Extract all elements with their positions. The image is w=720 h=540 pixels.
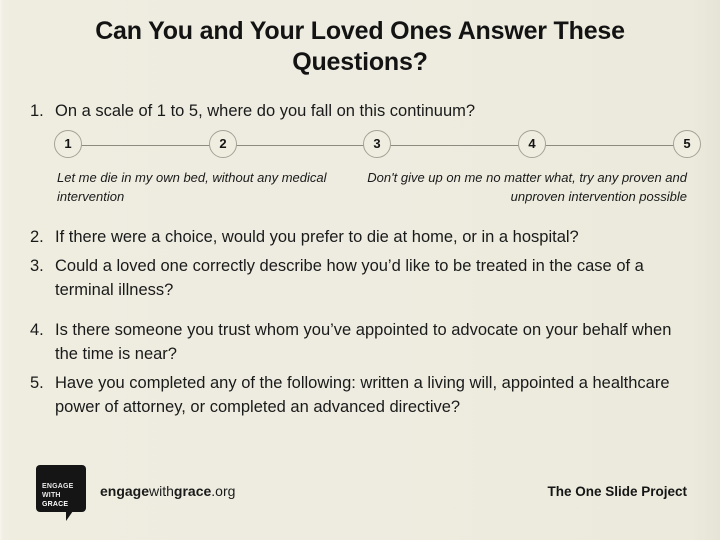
logo-word-with: WITH — [42, 492, 61, 499]
website-url[interactable]: engagewithgrace.org — [100, 483, 235, 499]
question-number-1: 1. — [30, 99, 52, 123]
project-label: The One Slide Project — [547, 484, 687, 499]
slide-canvas: Can You and Your Loved Ones Answer These… — [0, 0, 720, 540]
logo-text: ENGAGE WITH GRACE — [42, 482, 82, 509]
question-text-2: If there were a choice, would you prefer… — [55, 225, 692, 249]
question-text-1: On a scale of 1 to 5, where do you fall … — [55, 99, 692, 123]
engage-with-grace-logo[interactable]: ENGAGE WITH GRACE — [36, 465, 86, 512]
url-part-engage: engage — [100, 483, 149, 499]
logo-word-grace: GRACE — [42, 501, 68, 508]
question-text-4: Is there someone you trust whom you’ve a… — [55, 318, 680, 366]
question-item-1: 1. On a scale of 1 to 5, where do you fa… — [30, 99, 692, 123]
question-number-4: 4. — [30, 318, 52, 342]
question-text-5: Have you completed any of the following:… — [55, 371, 690, 419]
logo-tail-icon — [66, 511, 77, 521]
question-item-4: 4. Is there someone you trust whom you’v… — [30, 318, 680, 366]
question-number-3: 3. — [30, 254, 52, 278]
question-text-3: Could a loved one correctly describe how… — [55, 254, 670, 302]
url-part-tld: .org — [211, 483, 235, 499]
continuum-scale: 1 2 3 4 5 — [55, 130, 700, 162]
question-number-2: 2. — [30, 225, 52, 249]
scale-node-5[interactable]: 5 — [673, 130, 701, 158]
logo-line-1: ENGAGE — [42, 482, 82, 491]
page-title: Can You and Your Loved Ones Answer These… — [40, 16, 680, 78]
question-item-2: 2. If there were a choice, would you pre… — [30, 225, 692, 249]
logo-line-2: WITH GRACE — [42, 491, 82, 509]
url-part-grace: grace — [174, 483, 211, 499]
scale-node-2[interactable]: 2 — [209, 130, 237, 158]
question-item-5: 5. Have you completed any of the followi… — [30, 371, 690, 419]
scale-node-3[interactable]: 3 — [363, 130, 391, 158]
scale-node-4[interactable]: 4 — [518, 130, 546, 158]
question-number-5: 5. — [30, 371, 52, 395]
scale-caption-left: Let me die in my own bed, without any me… — [57, 168, 347, 206]
scale-caption-right: Don't give up on me no matter what, try … — [340, 168, 687, 206]
scale-node-1[interactable]: 1 — [54, 130, 82, 158]
url-part-with: with — [149, 483, 174, 499]
question-item-3: 3. Could a loved one correctly describe … — [30, 254, 670, 302]
